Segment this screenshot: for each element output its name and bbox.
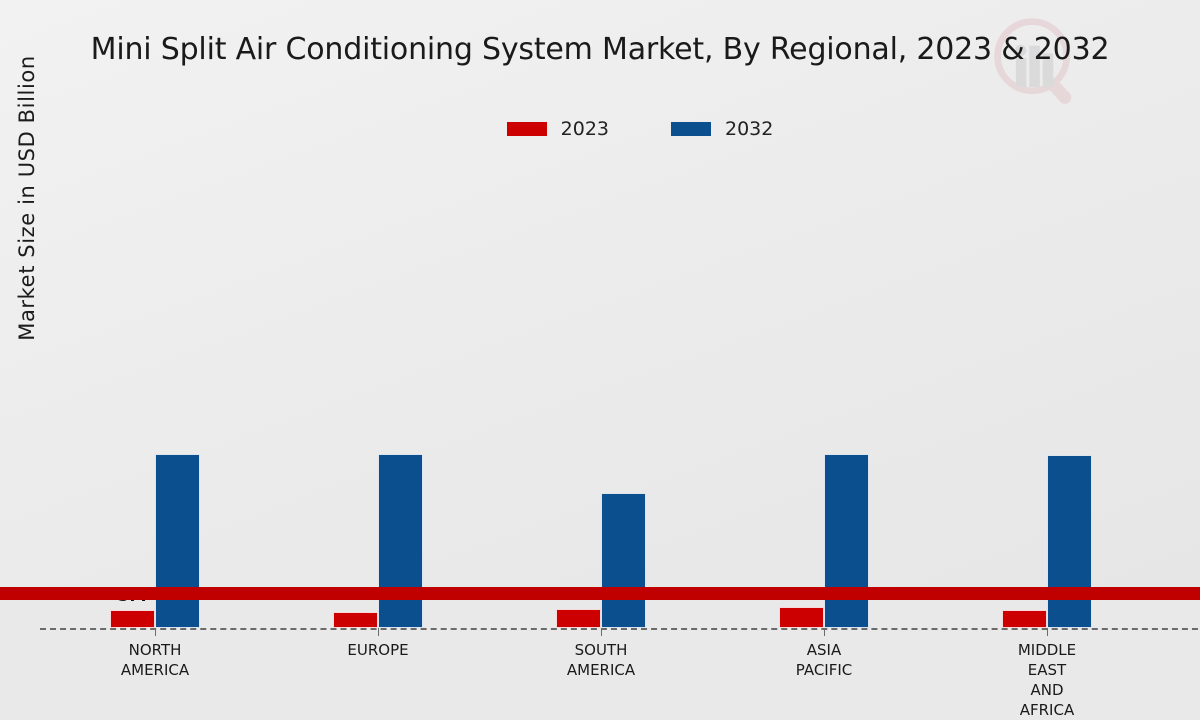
category-label-line: AMERICA xyxy=(501,660,701,680)
category-label-line: EUROPE xyxy=(278,640,478,660)
category-label-line: AND xyxy=(947,680,1147,700)
axis-tick xyxy=(1047,628,1048,636)
category-label: EUROPE xyxy=(278,640,478,660)
category-label: NORTHAMERICA xyxy=(55,640,255,680)
category-label-line: AMERICA xyxy=(55,660,255,680)
legend-item-2032[interactable]: 2032 xyxy=(671,118,773,140)
legend-swatch-2032 xyxy=(671,122,711,136)
axis-tick xyxy=(378,628,379,636)
category-label-line: MIDDLE xyxy=(947,640,1147,660)
category-label-line: NORTH xyxy=(55,640,255,660)
bar-2023[interactable] xyxy=(1002,610,1047,628)
chart-container: Mini Split Air Conditioning System Marke… xyxy=(0,0,1200,600)
bar-2023[interactable] xyxy=(110,610,155,628)
category-label: SOUTHAMERICA xyxy=(501,640,701,680)
legend-label-2032: 2032 xyxy=(725,118,773,140)
legend-item-2023[interactable]: 2023 xyxy=(507,118,609,140)
page-title: Mini Split Air Conditioning System Marke… xyxy=(0,32,1200,67)
bar-2032[interactable] xyxy=(601,493,646,628)
plot-area: 5.4 NORTHAMERICAEUROPESOUTHAMERICAASIAPA… xyxy=(40,160,1190,470)
footer-accent-bar xyxy=(0,587,1200,600)
axis-baseline xyxy=(40,628,1200,630)
bar-2032[interactable] xyxy=(155,454,200,628)
bar-2032[interactable] xyxy=(378,454,423,628)
bar-2023[interactable] xyxy=(779,607,824,628)
category-label: ASIAPACIFIC xyxy=(724,640,924,680)
bar-2023[interactable] xyxy=(333,612,378,628)
bar-2032[interactable] xyxy=(824,454,869,628)
bar-2032[interactable] xyxy=(1047,455,1092,628)
legend-swatch-2023 xyxy=(507,122,547,136)
y-axis-title: Market Size in USD Billion xyxy=(15,3,39,393)
category-label-line: ASIA xyxy=(724,640,924,660)
axis-tick xyxy=(155,628,156,636)
category-label-line: AFRICA xyxy=(947,700,1147,720)
category-label-line: EAST xyxy=(947,660,1147,680)
category-label-line: SOUTH xyxy=(501,640,701,660)
category-label-line: PACIFIC xyxy=(724,660,924,680)
axis-tick xyxy=(824,628,825,636)
legend-label-2023: 2023 xyxy=(561,118,609,140)
category-label: MIDDLEEASTANDAFRICA xyxy=(947,640,1147,720)
chart-legend: 2023 2032 xyxy=(0,118,1200,140)
bar-2023[interactable] xyxy=(556,609,601,628)
axis-tick xyxy=(601,628,602,636)
